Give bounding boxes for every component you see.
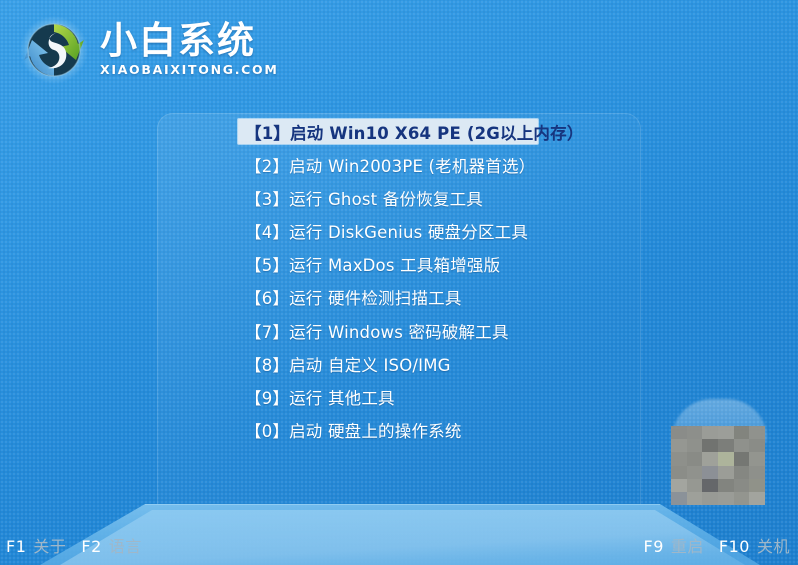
- hotkey-label-f1[interactable]: 关于: [33, 533, 66, 557]
- menu-item-4[interactable]: 【4】运行 DiskGenius 硬盘分区工具: [238, 219, 538, 244]
- brand-logo: 小白系统 XIAOBAIXITONG.COM: [12, 8, 282, 88]
- brand-text: 小白系统 XIAOBAIXITONG.COM: [100, 20, 279, 77]
- brand-title: 小白系统: [100, 20, 279, 62]
- menu-item-3[interactable]: 【3】运行 Ghost 备份恢复工具: [238, 185, 538, 210]
- hotkey-f10[interactable]: F10: [719, 537, 750, 556]
- hotkey-label-f2[interactable]: 语言: [109, 533, 142, 557]
- hotkey-f9[interactable]: F9: [644, 537, 664, 556]
- menu-item-6[interactable]: 【6】运行 硬件检测扫描工具: [238, 285, 538, 310]
- menu-item-1[interactable]: 【1】启动 Win10 X64 PE (2G以上内存）: [238, 119, 538, 144]
- pixelated-mosaic-block: [671, 426, 765, 505]
- menu-item-label: 【1】启动 Win10 X64 PE (2G以上内存）: [245, 120, 584, 144]
- menu-item-label: 【4】运行 DiskGenius 硬盘分区工具: [245, 219, 528, 243]
- menu-item-label: 【5】运行 MaxDos 工具箱增强版: [245, 252, 500, 276]
- menu-item-label: 【6】运行 硬件检测扫描工具: [245, 285, 462, 309]
- hotkey-f1[interactable]: F1: [6, 537, 26, 556]
- footer-hotkeys-left: F1关于F2语言: [6, 533, 142, 557]
- hotkey-label-f9[interactable]: 重启: [671, 533, 704, 557]
- menu-item-label: 【9】运行 其他工具: [245, 385, 395, 409]
- menu-item-9[interactable]: 【9】运行 其他工具: [238, 385, 538, 410]
- menu-item-label: 【3】运行 Ghost 备份恢复工具: [245, 186, 483, 210]
- menu-item-2[interactable]: 【2】启动 Win2003PE (老机器首选）: [238, 152, 538, 177]
- footer-hotkeys-right: F9重启F10关机: [644, 533, 790, 557]
- menu-item-label: 【2】启动 Win2003PE (老机器首选）: [245, 153, 535, 177]
- hotkey-f2[interactable]: F2: [81, 537, 101, 556]
- menu-item-label: 【7】运行 Windows 密码破解工具: [245, 319, 509, 343]
- brand-subtitle: XIAOBAIXITONG.COM: [100, 63, 279, 77]
- boot-menu-screen: 小白系统 XIAOBAIXITONG.COM 【1】启动 Win10 X64 P…: [0, 0, 798, 565]
- menu-item-label: 【8】启动 自定义 ISO/IMG: [245, 352, 451, 376]
- menu-item-label: 【0】启动 硬盘上的操作系统: [245, 418, 462, 442]
- refresh-arrows-icon: [16, 14, 92, 86]
- menu-item-0[interactable]: 【0】启动 硬盘上的操作系统: [238, 418, 538, 443]
- boot-menu-list: 【1】启动 Win10 X64 PE (2G以上内存）【2】启动 Win2003…: [238, 119, 538, 451]
- menu-item-5[interactable]: 【5】运行 MaxDos 工具箱增强版: [238, 252, 538, 277]
- menu-item-8[interactable]: 【8】启动 自定义 ISO/IMG: [238, 351, 538, 376]
- hotkey-label-f10[interactable]: 关机: [757, 533, 790, 557]
- menu-item-7[interactable]: 【7】运行 Windows 密码破解工具: [238, 318, 538, 343]
